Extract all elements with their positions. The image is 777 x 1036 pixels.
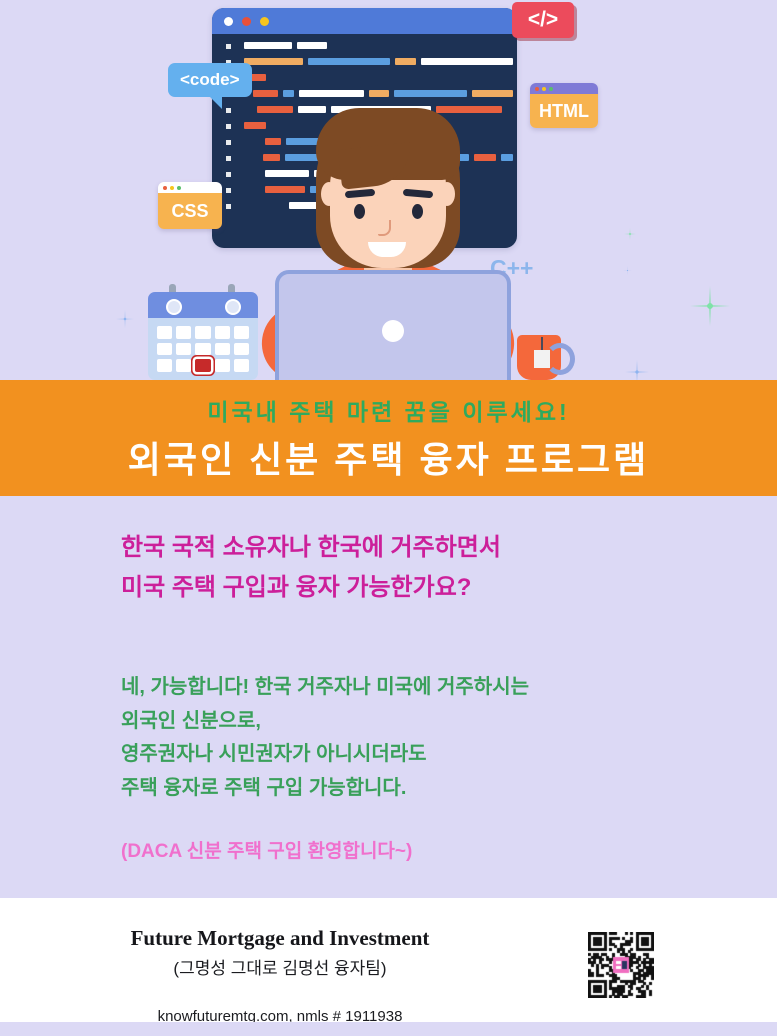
calendar-day-cell (176, 343, 191, 356)
gutter-mark (226, 124, 231, 129)
code-line (244, 90, 513, 97)
sparkle-shape (625, 360, 649, 380)
css-card: CSS (158, 182, 222, 229)
calendar-day-cell (157, 359, 172, 372)
code-token (299, 90, 364, 97)
calendar-day-cell (157, 326, 172, 339)
window-dot-white (224, 17, 233, 26)
sparkle-shape (624, 228, 636, 240)
card-dot-yellow (170, 186, 174, 190)
sparkle-shape (116, 310, 134, 328)
right-eye (412, 204, 423, 219)
calendar-day-cell (234, 343, 249, 356)
card-dot-yellow (542, 87, 546, 91)
sparkle-icon (623, 266, 632, 275)
window-dot-red (242, 17, 251, 26)
html-card: HTML (530, 83, 598, 128)
editor-title-bar (212, 8, 517, 34)
sparkle-icon (624, 228, 636, 240)
calendar-day-cell (195, 343, 210, 356)
banner-title: 외국인 신분 주택 융자 프로그램 (128, 431, 650, 483)
code-token (395, 58, 417, 65)
calendar-day-cell (157, 343, 172, 356)
code-token (244, 154, 258, 161)
calendar-hole-left (166, 299, 182, 315)
content-section: 한국 국적 소유자나 한국에 거주하면서미국 주택 구입과 융자 가능한가요? … (0, 496, 777, 898)
code-token (265, 138, 281, 145)
gutter-mark (226, 172, 231, 177)
question-block: 한국 국적 소유자나 한국에 거주하면서미국 주택 구입과 융자 가능한가요? (121, 528, 501, 608)
code-token (283, 90, 294, 97)
team-name: (그명성 그대로 김명선 융자팀) (0, 954, 560, 979)
card-dot-red (535, 87, 539, 91)
calendar-day-cell (215, 326, 230, 339)
bottom-strip (0, 1022, 777, 1036)
slash-tag-badge: </> (512, 2, 574, 38)
card-dot-green (549, 87, 553, 91)
calendar-day-cell (234, 359, 249, 372)
laptop-logo (382, 320, 404, 342)
tea-bag-tag (534, 350, 550, 368)
calendar-day-cell (195, 326, 210, 339)
code-token (244, 186, 260, 193)
company-name: Future Mortgage and Investment (0, 926, 560, 951)
tea-mug (517, 335, 561, 380)
code-line (244, 42, 513, 49)
answer-line: 네, 가능합니다! 한국 거주자나 미국에 거주하시는 (121, 671, 529, 705)
code-token (297, 42, 327, 49)
calendar-day-cell (215, 359, 230, 372)
code-token (244, 170, 260, 177)
code-line (244, 74, 513, 81)
code-token (244, 202, 284, 209)
code-token (369, 90, 390, 97)
code-token (308, 58, 390, 65)
answer-block: 네, 가능합니다! 한국 거주자나 미국에 거주하시는외국인 신분으로,영주권자… (121, 671, 529, 805)
sparkle-icon (690, 286, 730, 326)
gutter-mark (226, 140, 231, 145)
html-card-label: HTML (530, 94, 598, 128)
sparkle-shape (690, 286, 730, 326)
hero-illustration: <code> </> HTML CSS C++ (0, 0, 777, 380)
gutter-mark (226, 156, 231, 161)
code-token (244, 42, 292, 49)
code-token (501, 154, 513, 161)
desk-calendar (148, 292, 258, 380)
sparkle-icon (116, 310, 134, 328)
question-line: 한국 국적 소유자나 한국에 거주하면서 (121, 528, 501, 568)
calendar-day-cell (176, 359, 191, 372)
gutter-mark (226, 44, 231, 49)
laptop-device (275, 270, 511, 380)
sparkle-icon (625, 360, 649, 380)
calendar-header (148, 292, 258, 318)
css-card-titlebar (158, 182, 222, 193)
calendar-day-cell (234, 326, 249, 339)
code-token (394, 90, 466, 97)
gutter-mark (226, 188, 231, 193)
sparkle-shape (623, 266, 632, 275)
answer-line: 외국인 신분으로, (121, 705, 529, 739)
code-token (472, 90, 513, 97)
calendar-day-cell (215, 343, 230, 356)
banner-subtitle: 미국내 주택 마련 꿈을 이루세요! (207, 393, 569, 427)
code-token (244, 58, 303, 65)
daca-note: (DACA 신분 주택 구입 환영합니다~) (121, 836, 412, 863)
code-token (244, 122, 266, 129)
card-dot-green (177, 186, 181, 190)
code-token (263, 154, 280, 161)
code-token (244, 106, 252, 113)
calendar-hole-right (225, 299, 241, 315)
code-token (244, 138, 260, 145)
html-card-titlebar (530, 83, 598, 94)
calendar-marked-date (195, 359, 210, 372)
code-bubble-badge: <code> (168, 63, 252, 97)
tea-bag-string (541, 337, 543, 351)
calendar-grid (148, 318, 258, 380)
headline-banner: 미국내 주택 마련 꿈을 이루세요! 외국인 신분 주택 융자 프로그램 (0, 380, 777, 496)
css-card-label: CSS (158, 193, 222, 229)
qr-code[interactable] (588, 932, 654, 998)
left-eye (354, 204, 365, 219)
code-line (244, 58, 513, 65)
footer-text-group: Future Mortgage and Investment (그명성 그대로 … (0, 898, 560, 1025)
answer-line: 주택 융자로 주택 구입 가능합니다. (121, 772, 529, 806)
footer-section: Future Mortgage and Investment (그명성 그대로 … (0, 898, 777, 1022)
poster-root: <code> </> HTML CSS C++ 미국내 주택 마련 꿈을 이루세… (0, 0, 777, 1036)
calendar-day-cell (176, 326, 191, 339)
window-dot-yellow (260, 17, 269, 26)
question-line: 미국 주택 구입과 융자 가능한가요? (121, 568, 501, 608)
gutter-mark (226, 108, 231, 113)
gutter-mark (226, 204, 231, 209)
answer-line: 영주권자나 시민권자가 아니시더라도 (121, 738, 529, 772)
code-token (421, 58, 513, 65)
code-token (253, 90, 278, 97)
card-dot-red (163, 186, 167, 190)
